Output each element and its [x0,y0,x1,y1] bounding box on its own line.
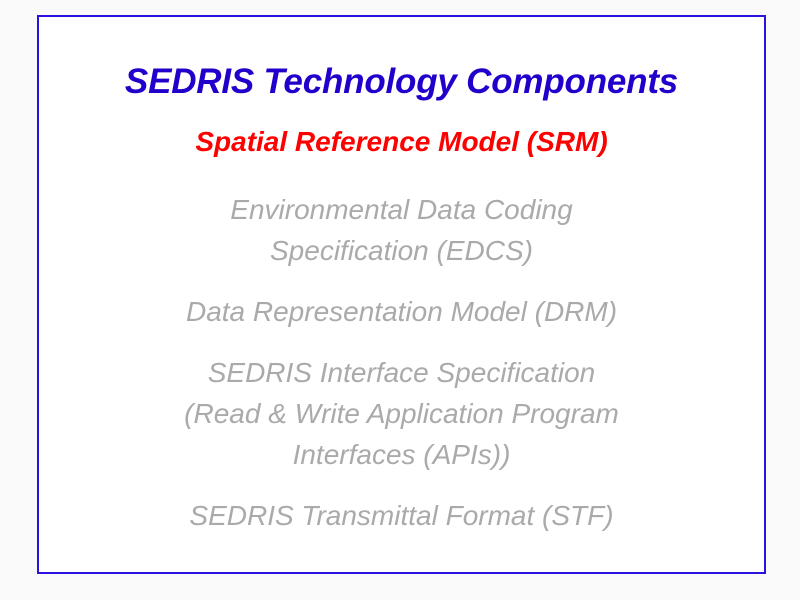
slide-content: SEDRIS Technology Components Spatial Ref… [39,17,764,572]
component-item-drm: Data Representation Model (DRM) [57,291,746,332]
component-item-edcs: Environmental Data Coding Specification … [57,189,746,271]
slide-border-frame: SEDRIS Technology Components Spatial Ref… [37,15,766,574]
component-line: (Read & Write Application Program [57,393,746,434]
component-line: Data Representation Model (DRM) [57,291,746,332]
component-line: SEDRIS Interface Specification [57,352,746,393]
technology-component-list: Environmental Data Coding Specification … [57,189,746,536]
slide-subtitle-srm: Spatial Reference Model (SRM) [57,125,746,159]
component-line: SEDRIS Transmittal Format (STF) [57,495,746,536]
component-line: Interfaces (APIs)) [57,434,746,475]
component-item-stf: SEDRIS Transmittal Format (STF) [57,495,746,536]
presentation-slide: SEDRIS Technology Components Spatial Ref… [0,0,800,600]
component-line: Specification (EDCS) [57,230,746,271]
slide-title: SEDRIS Technology Components [57,61,746,103]
component-line: Environmental Data Coding [57,189,746,230]
component-item-interface-spec: SEDRIS Interface Specification (Read & W… [57,352,746,475]
